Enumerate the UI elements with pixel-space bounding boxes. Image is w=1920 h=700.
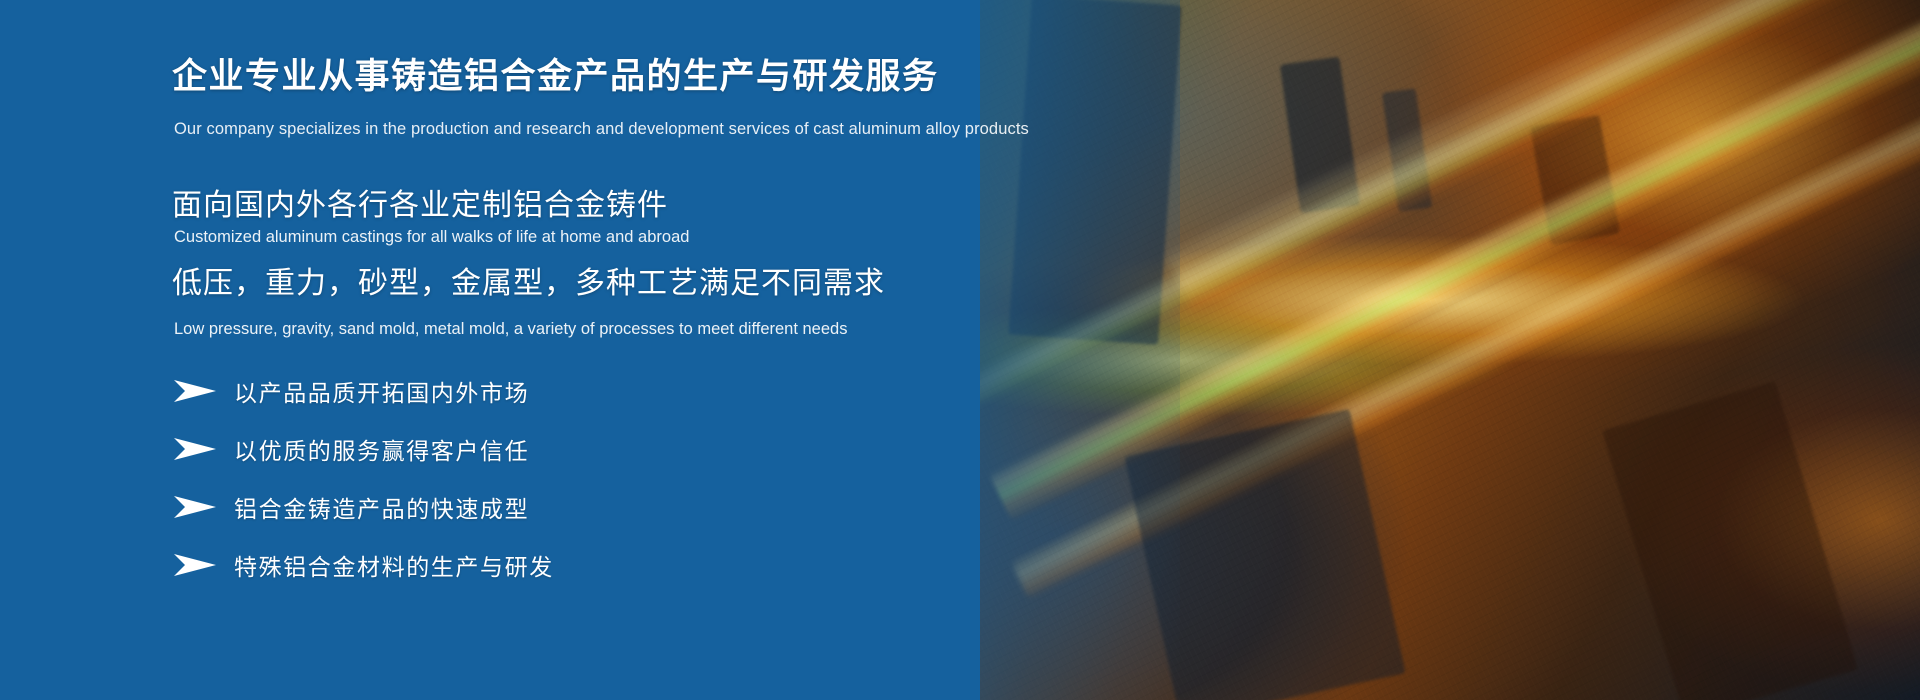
arrow-right-icon [172, 378, 218, 404]
list-item-label: 以优质的服务赢得客户信任 [234, 432, 529, 466]
banner-content: 企业专业从事铸造铝合金产品的生产与研发服务 Our company specia… [172, 0, 1272, 700]
headline-primary-cn: 企业专业从事铸造铝合金产品的生产与研发服务 [172, 48, 939, 99]
arrow-right-icon [172, 552, 218, 578]
list-item: 铝合金铸造产品的快速成型 [172, 488, 792, 526]
headline-secondary-cn: 面向国内外各行各业定制铝合金铸件 [172, 180, 668, 224]
headline-primary-en: Our company specializes in the productio… [174, 120, 1029, 139]
hero-banner: 企业专业从事铸造铝合金产品的生产与研发服务 Our company specia… [0, 0, 1920, 700]
list-item-label: 特殊铝合金材料的生产与研发 [234, 548, 554, 582]
list-item-label: 以产品品质开拓国内外市场 [234, 374, 529, 408]
arrow-right-icon [172, 436, 218, 462]
arrow-right-icon [172, 494, 218, 520]
headline-secondary-en: Customized aluminum castings for all wal… [174, 228, 689, 247]
list-item: 特殊铝合金材料的生产与研发 [172, 546, 792, 584]
feature-bullet-list: 以产品品质开拓国内外市场 以优质的服务赢得客户信任 铝合金铸造产品的快速成型 特… [172, 372, 792, 604]
headline-tertiary-cn: 低压，重力，砂型，金属型，多种工艺满足不同需求 [172, 258, 885, 302]
list-item-label: 铝合金铸造产品的快速成型 [234, 490, 529, 524]
headline-tertiary-en: Low pressure, gravity, sand mold, metal … [174, 320, 847, 339]
list-item: 以优质的服务赢得客户信任 [172, 430, 792, 468]
list-item: 以产品品质开拓国内外市场 [172, 372, 792, 410]
